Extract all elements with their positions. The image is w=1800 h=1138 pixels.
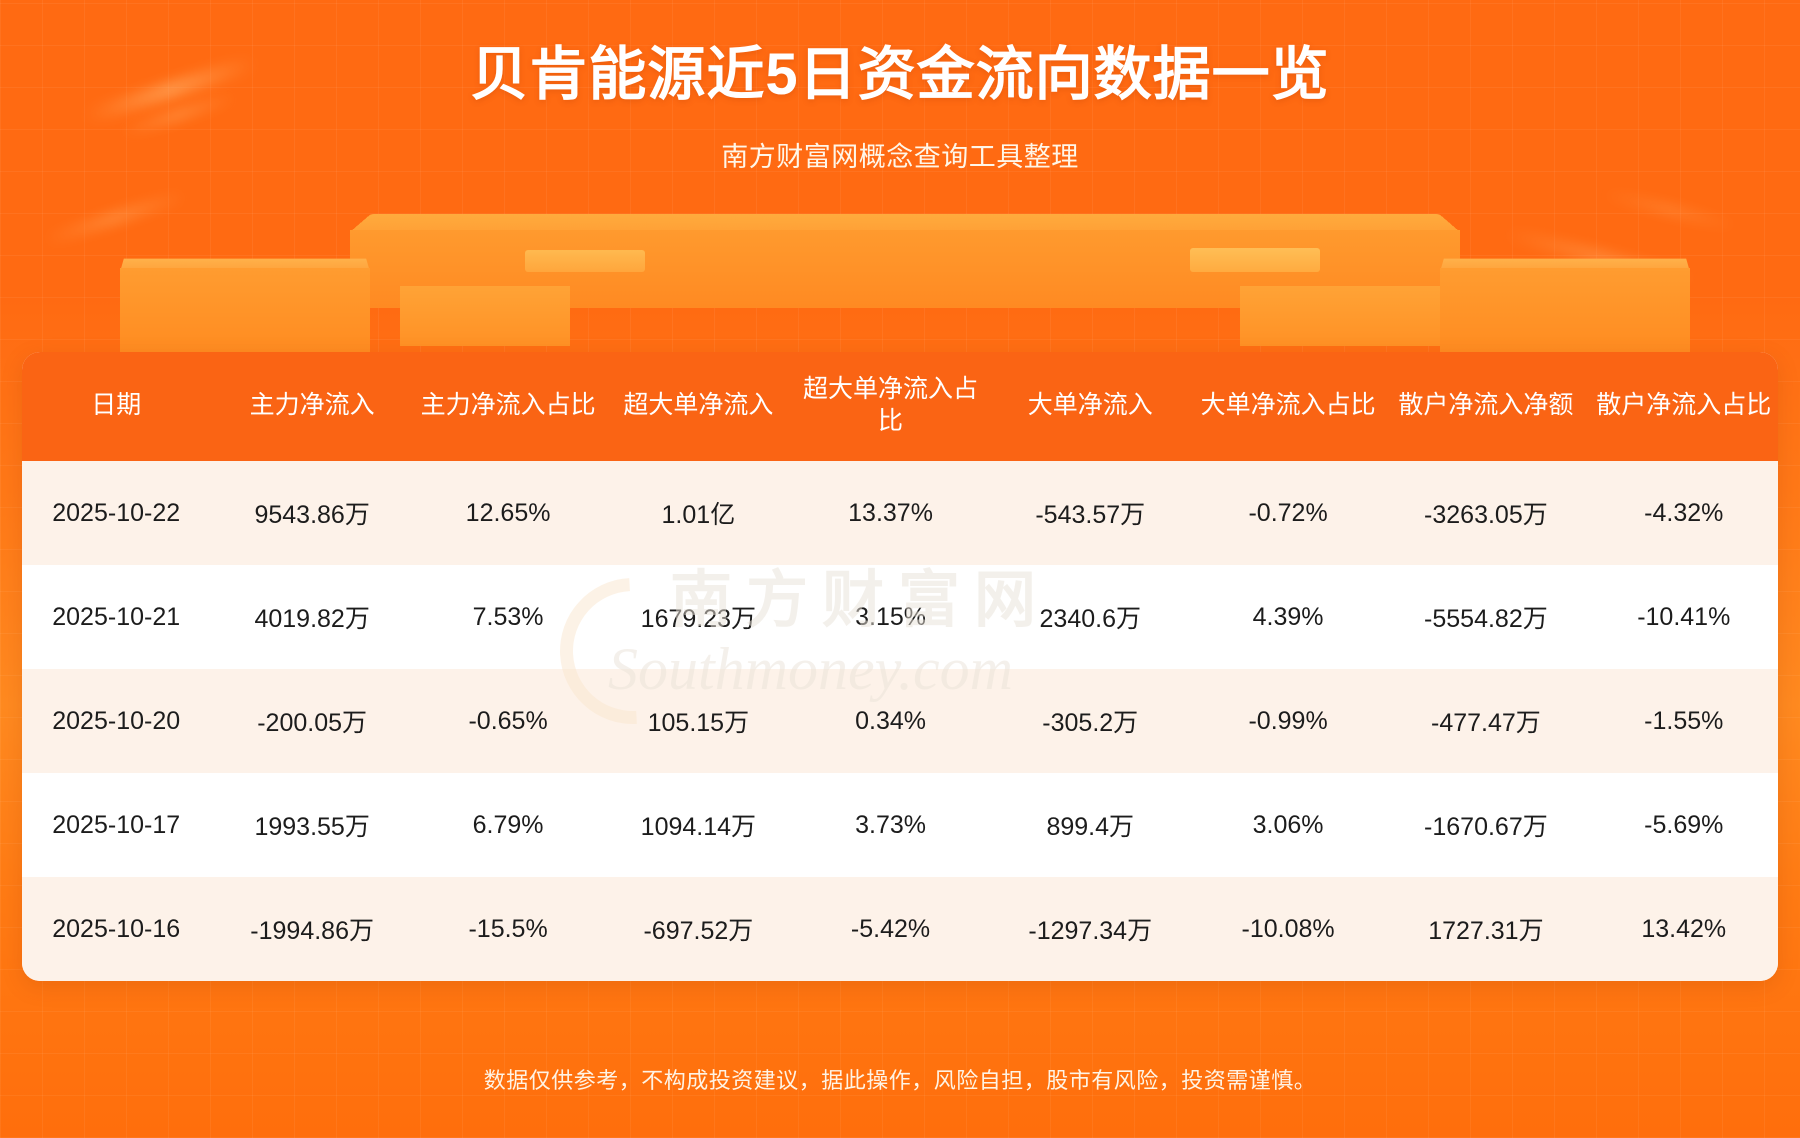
- cell-main-net: -1994.86万: [210, 877, 413, 981]
- cell-retail-net: -1670.67万: [1382, 773, 1589, 877]
- cell-lg-net: -1297.34万: [987, 877, 1194, 981]
- cell-xl-pct: 3.15%: [794, 565, 986, 669]
- cell-main-net: 9543.86万: [210, 461, 413, 565]
- podium-block: [120, 268, 370, 363]
- cell-lg-pct: -10.08%: [1194, 877, 1382, 981]
- cell-main-net: -200.05万: [210, 669, 413, 773]
- cell-lg-net: -543.57万: [987, 461, 1194, 565]
- cell-date: 2025-10-17: [22, 773, 210, 877]
- cell-retail-net: 1727.31万: [1382, 877, 1589, 981]
- cell-retail-pct: 13.42%: [1590, 877, 1778, 981]
- table-header: 日期 主力净流入 主力净流入占比 超大单净流入 超大单净流入占比 大单净流入 大…: [22, 352, 1778, 461]
- cell-retail-net: -5554.82万: [1382, 565, 1589, 669]
- cell-xl-net: 1.01亿: [602, 461, 794, 565]
- col-header-main-net[interactable]: 主力净流入: [210, 352, 413, 461]
- cell-retail-pct: -10.41%: [1590, 565, 1778, 669]
- table-row: 2025-10-21 4019.82万 7.53% 1679.23万 3.15%…: [22, 565, 1778, 669]
- col-header-xl-net[interactable]: 超大单净流入: [602, 352, 794, 461]
- cell-date: 2025-10-20: [22, 669, 210, 773]
- page-subtitle: 南方财富网概念查询工具整理: [0, 109, 1800, 174]
- cell-xl-pct: 13.37%: [794, 461, 986, 565]
- podium-block: [525, 250, 645, 272]
- cell-retail-pct: -4.32%: [1590, 461, 1778, 565]
- cell-lg-pct: -0.72%: [1194, 461, 1382, 565]
- cell-xl-pct: -5.42%: [794, 877, 986, 981]
- cell-main-pct: -0.65%: [414, 669, 602, 773]
- cell-main-pct: 12.65%: [414, 461, 602, 565]
- col-header-xl-pct[interactable]: 超大单净流入占比: [794, 352, 986, 461]
- disclaimer-text: 数据仅供参考，不构成投资建议，据此操作，风险自担，股市有风险，投资需谨慎。: [0, 1063, 1800, 1095]
- table-row: 2025-10-16 -1994.86万 -15.5% -697.52万 -5.…: [22, 877, 1778, 981]
- cell-retail-pct: -5.69%: [1590, 773, 1778, 877]
- poster-page: 贝肯能源近5日资金流向数据一览 南方财富网概念查询工具整理 南方财富网 Sout…: [0, 0, 1800, 1138]
- cell-lg-net: 899.4万: [987, 773, 1194, 877]
- table-row: 2025-10-20 -200.05万 -0.65% 105.15万 0.34%…: [22, 669, 1778, 773]
- cell-retail-pct: -1.55%: [1590, 669, 1778, 773]
- cell-xl-net: 1094.14万: [602, 773, 794, 877]
- cell-xl-net: -697.52万: [602, 877, 794, 981]
- podium-block: [1190, 248, 1320, 272]
- col-header-retail-net[interactable]: 散户净流入净额: [1382, 352, 1589, 461]
- cell-lg-pct: -0.99%: [1194, 669, 1382, 773]
- cell-main-net: 4019.82万: [210, 565, 413, 669]
- cell-lg-pct: 4.39%: [1194, 565, 1382, 669]
- col-header-lg-pct[interactable]: 大单净流入占比: [1194, 352, 1382, 461]
- cell-main-net: 1993.55万: [210, 773, 413, 877]
- col-header-main-pct[interactable]: 主力净流入占比: [414, 352, 602, 461]
- col-header-retail-pct[interactable]: 散户净流入占比: [1590, 352, 1778, 461]
- table-header-row: 日期 主力净流入 主力净流入占比 超大单净流入 超大单净流入占比 大单净流入 大…: [22, 352, 1778, 461]
- fund-flow-table: 日期 主力净流入 主力净流入占比 超大单净流入 超大单净流入占比 大单净流入 大…: [22, 352, 1778, 981]
- podium-block: [1440, 268, 1690, 363]
- cell-date: 2025-10-22: [22, 461, 210, 565]
- data-table-card: 日期 主力净流入 主力净流入占比 超大单净流入 超大单净流入占比 大单净流入 大…: [22, 352, 1778, 981]
- cell-main-pct: 6.79%: [414, 773, 602, 877]
- col-header-date[interactable]: 日期: [22, 352, 210, 461]
- cell-lg-net: -305.2万: [987, 669, 1194, 773]
- cell-main-pct: -15.5%: [414, 877, 602, 981]
- table-row: 2025-10-17 1993.55万 6.79% 1094.14万 3.73%…: [22, 773, 1778, 877]
- cell-xl-pct: 0.34%: [794, 669, 986, 773]
- cell-date: 2025-10-16: [22, 877, 210, 981]
- cell-retail-net: -3263.05万: [1382, 461, 1589, 565]
- cell-lg-pct: 3.06%: [1194, 773, 1382, 877]
- cell-xl-net: 1679.23万: [602, 565, 794, 669]
- cell-retail-net: -477.47万: [1382, 669, 1589, 773]
- podium-decoration: [0, 190, 1800, 350]
- cell-lg-net: 2340.6万: [987, 565, 1194, 669]
- podium-block: [400, 286, 570, 346]
- table-row: 2025-10-22 9543.86万 12.65% 1.01亿 13.37% …: [22, 461, 1778, 565]
- table-body: 2025-10-22 9543.86万 12.65% 1.01亿 13.37% …: [22, 461, 1778, 981]
- page-title: 贝肯能源近5日资金流向数据一览: [0, 0, 1800, 109]
- col-header-lg-net[interactable]: 大单净流入: [987, 352, 1194, 461]
- cell-xl-net: 105.15万: [602, 669, 794, 773]
- cell-main-pct: 7.53%: [414, 565, 602, 669]
- cell-date: 2025-10-21: [22, 565, 210, 669]
- hero-section: 贝肯能源近5日资金流向数据一览 南方财富网概念查询工具整理: [0, 0, 1800, 174]
- cell-xl-pct: 3.73%: [794, 773, 986, 877]
- podium-block: [1240, 286, 1440, 346]
